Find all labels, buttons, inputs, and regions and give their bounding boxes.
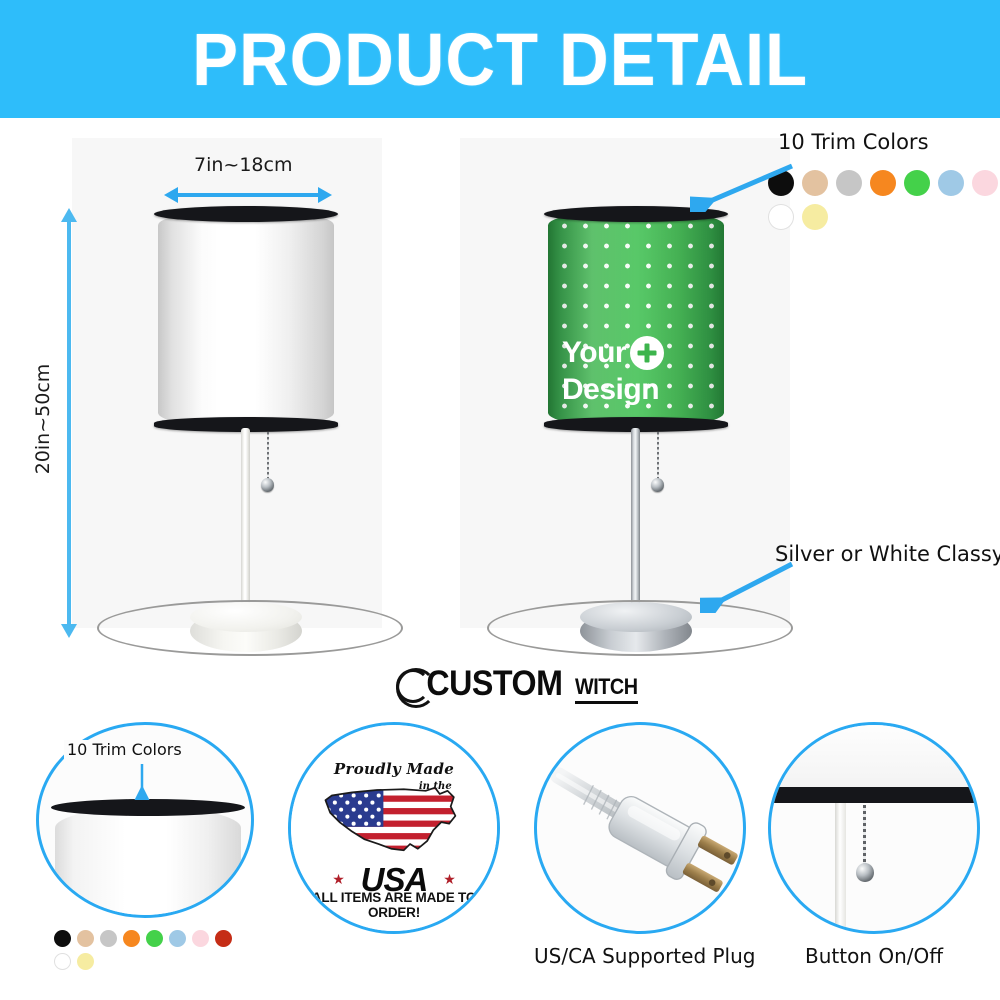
base-finish-callout-label: Silver or White Classy xyxy=(775,542,1000,566)
feature-circle xyxy=(768,722,980,934)
pull-chain-ball xyxy=(651,478,664,492)
trim-color-swatch-gray[interactable] xyxy=(100,930,117,947)
pull-chain-ball xyxy=(261,478,274,492)
trim-color-swatch-white[interactable] xyxy=(54,953,71,970)
feature-circle xyxy=(534,722,746,934)
your-design-line1: Your xyxy=(562,338,626,368)
feature-plug: US/CA Supported Plug xyxy=(534,722,746,992)
feature-trim-colors: 10 Trim Colors xyxy=(36,722,258,992)
trim-color-swatch-pink[interactable] xyxy=(192,930,209,947)
pull-chain xyxy=(657,432,659,480)
trim-top-black xyxy=(154,206,338,222)
feature-circle: Proudly Made in the xyxy=(288,722,500,934)
usa-badge: Proudly Made in the xyxy=(291,725,497,931)
trim-colors-swatches-bottom xyxy=(54,930,254,970)
feature-made-in-usa: Proudly Made in the xyxy=(288,722,502,992)
shade-bottom-crop xyxy=(768,722,980,793)
shade-surface: Your Design xyxy=(548,210,724,428)
pull-chain-ball xyxy=(856,863,874,882)
pull-chain xyxy=(267,432,269,480)
trim-color-swatch-tan[interactable] xyxy=(802,170,828,196)
pull-chain xyxy=(863,805,866,867)
trim-color-swatch-orange[interactable] xyxy=(123,930,140,947)
plus-circle-icon xyxy=(630,336,664,370)
trim-bottom-black xyxy=(768,787,980,803)
lamp-shade-white xyxy=(158,210,334,428)
header-banner: PRODUCT DETAIL xyxy=(0,0,1000,118)
height-dimension-arrow xyxy=(60,208,78,638)
trim-color-swatch-tan[interactable] xyxy=(77,930,94,947)
lamp-pole-white xyxy=(835,803,846,934)
brand-logo: CUSTOM WITCH xyxy=(396,664,645,704)
trim-color-swatch-green[interactable] xyxy=(904,170,930,196)
usa-line-top: Proudly Made xyxy=(291,760,497,778)
trim-color-swatch-orange[interactable] xyxy=(870,170,896,196)
your-design-line2: Design xyxy=(562,375,722,405)
power-plug-icon xyxy=(537,725,743,931)
double-c-icon xyxy=(396,669,430,703)
trim-colors-swatches-top xyxy=(768,170,1000,230)
shade-gloss xyxy=(158,210,334,428)
lamp-shade-crop xyxy=(55,807,241,918)
lamp-shade-custom-design: Your Design xyxy=(548,210,724,428)
lamp-base-top xyxy=(190,602,302,632)
arrow-down-icon xyxy=(61,624,77,638)
feature-caption-plug: US/CA Supported Plug xyxy=(534,944,746,968)
arrow-up-icon xyxy=(61,208,77,222)
feature-inner-label: 10 Trim Colors xyxy=(64,740,185,759)
trim-color-swatch-gray[interactable] xyxy=(836,170,862,196)
trim-color-swatch-yellow[interactable] xyxy=(802,204,828,230)
trim-color-swatch-black[interactable] xyxy=(54,930,71,947)
trim-color-swatch-green[interactable] xyxy=(146,930,163,947)
usa-line-bottom: ALL ITEMS ARE MADE TO ORDER! xyxy=(291,890,497,920)
usa-flag-map-icon xyxy=(314,783,475,861)
brand-name-main: CUSTOM xyxy=(426,664,562,704)
page-title: PRODUCT DETAIL xyxy=(192,17,808,102)
trim-color-swatch-red[interactable] xyxy=(215,930,232,947)
feature-switch: Button On/Off xyxy=(768,722,980,992)
shade-surface xyxy=(158,210,334,428)
your-design-text-block: Your Design xyxy=(562,336,722,405)
product-stage: 7in~18cm 20in~50cm xyxy=(0,118,1000,658)
brand-name-sub: WITCH xyxy=(575,674,638,704)
width-dimension-label: 7in~18cm xyxy=(194,154,292,176)
trim-color-swatch-light-blue[interactable] xyxy=(938,170,964,196)
trim-colors-arrow-icon xyxy=(690,160,800,212)
height-dimension-label: 20in~50cm xyxy=(32,359,54,479)
trim-colors-down-arrow-icon xyxy=(132,762,152,800)
trim-color-swatch-light-blue[interactable] xyxy=(169,930,186,947)
trim-color-swatch-yellow[interactable] xyxy=(77,953,94,970)
lamp-base-top xyxy=(580,602,692,632)
base-finish-arrow-icon xyxy=(700,558,800,613)
lamp-white xyxy=(150,200,350,630)
star-left-icon: ★ xyxy=(332,871,345,888)
trim-colors-callout-label: 10 Trim Colors xyxy=(778,130,929,154)
feature-caption-switch: Button On/Off xyxy=(768,944,980,968)
trim-color-swatch-pink[interactable] xyxy=(972,170,998,196)
trim-top-black xyxy=(51,799,245,816)
star-right-icon: ★ xyxy=(443,871,456,888)
product-detail-page: PRODUCT DETAIL 7in~18cm 20in~50cm xyxy=(0,0,1000,1000)
